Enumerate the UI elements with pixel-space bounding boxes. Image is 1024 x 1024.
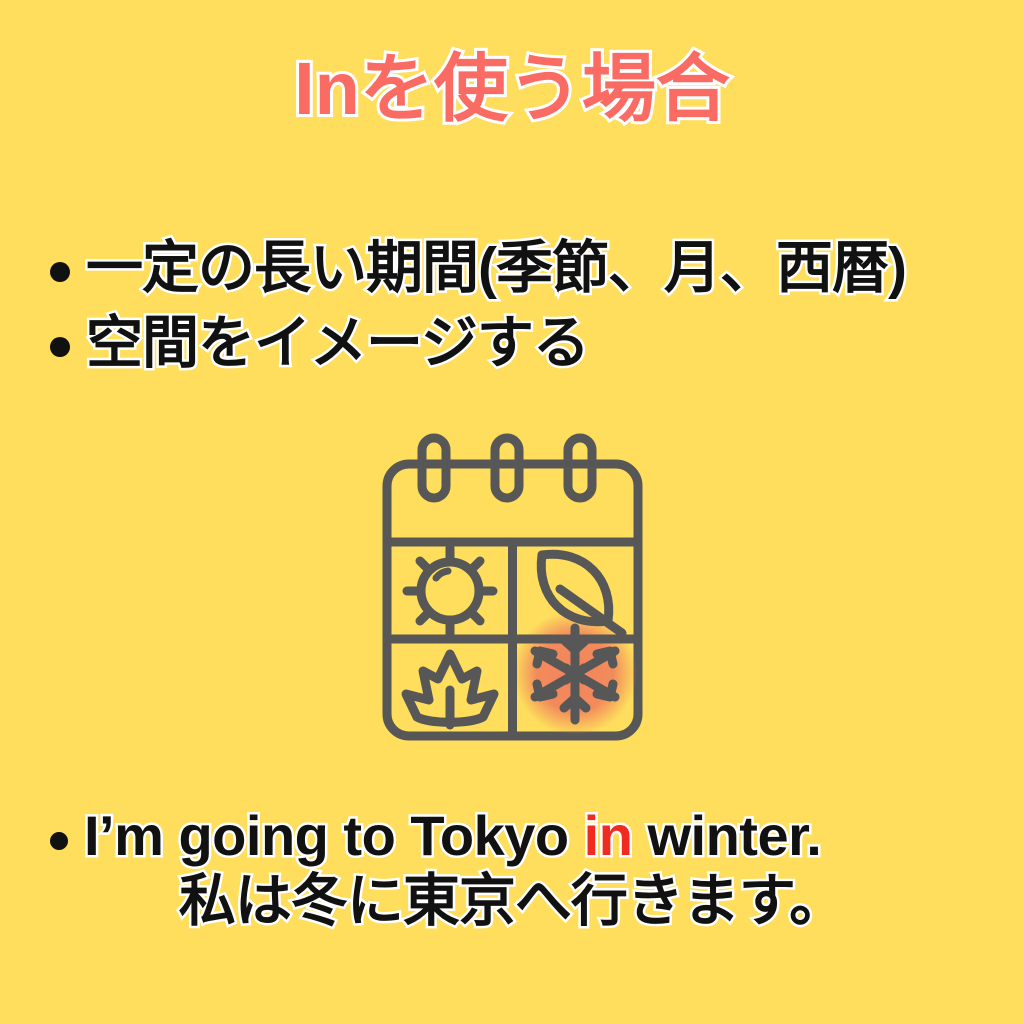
example-sentence-block: I’m going to Tokyo in winter. 私は冬に東京へ行きま… [50,806,1010,933]
example-sentence-japanese: 私は冬に東京へ行きます。 [50,870,1010,933]
seasons-calendar-illustration [370,428,655,743]
page-title: Inを使う場合 [0,52,1024,126]
english-before: I’m going to Tokyo [84,804,584,867]
bullet-dot-icon [50,337,70,357]
bullet-list: 一定の長い期間(季節、月、西暦) 空間をイメージする [50,236,1010,386]
maple-leaf-icon [406,654,494,725]
bullet-dot-icon [50,832,68,850]
bullet-dot-icon [50,262,70,282]
english-after: winter. [632,804,821,867]
slide-canvas: Inを使う場合 一定の長い期間(季節、月、西暦) 空間をイメージする [0,0,1024,1024]
list-item: 一定の長い期間(季節、月、西暦) [50,236,1010,301]
list-item: I’m going to Tokyo in winter. [50,806,1010,866]
bullet-item-label: 一定の長い期間(季節、月、西暦) [86,236,1010,301]
bullet-item-label: 空間をイメージする [86,311,1010,376]
highlighted-preposition: in [584,804,633,867]
list-item: 空間をイメージする [50,311,1010,376]
sun-icon [407,548,493,634]
example-sentence-english: I’m going to Tokyo in winter. [84,806,1010,866]
